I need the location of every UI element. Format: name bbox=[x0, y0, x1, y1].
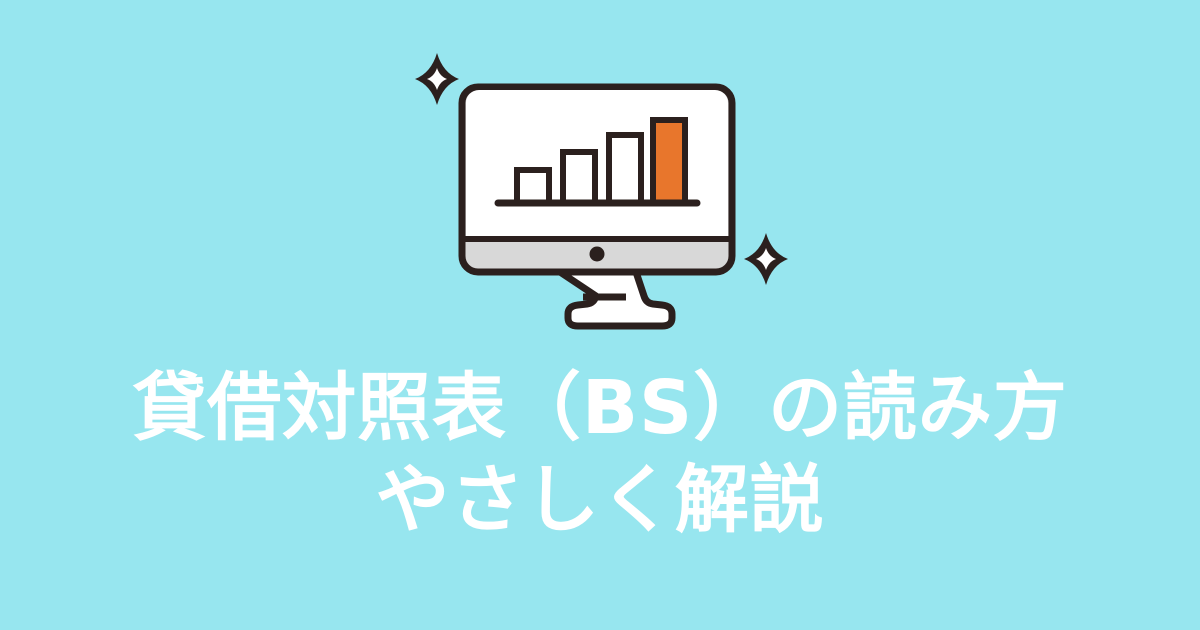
bar-3 bbox=[609, 135, 641, 203]
banner-root: 貸借対照表（BS）の読み方 やさしく解説 bbox=[0, 0, 1200, 630]
sparkle-bottom-right-icon bbox=[744, 233, 788, 285]
sparkle-top-left-icon bbox=[415, 53, 459, 105]
bar-4-highlighted bbox=[653, 120, 685, 203]
bar-1 bbox=[517, 170, 549, 203]
bar-2 bbox=[563, 152, 595, 203]
page-title: 貸借対照表（BS）の読み方 やさしく解説 bbox=[0, 362, 1200, 546]
illustration-container bbox=[0, 0, 1200, 340]
page-title-line-2: やさしく解説 bbox=[0, 454, 1200, 546]
monitor-indicator-dot-icon bbox=[590, 247, 605, 262]
page-title-line-1: 貸借対照表（BS）の読み方 bbox=[0, 362, 1200, 454]
monitor-stand-icon bbox=[560, 272, 672, 326]
